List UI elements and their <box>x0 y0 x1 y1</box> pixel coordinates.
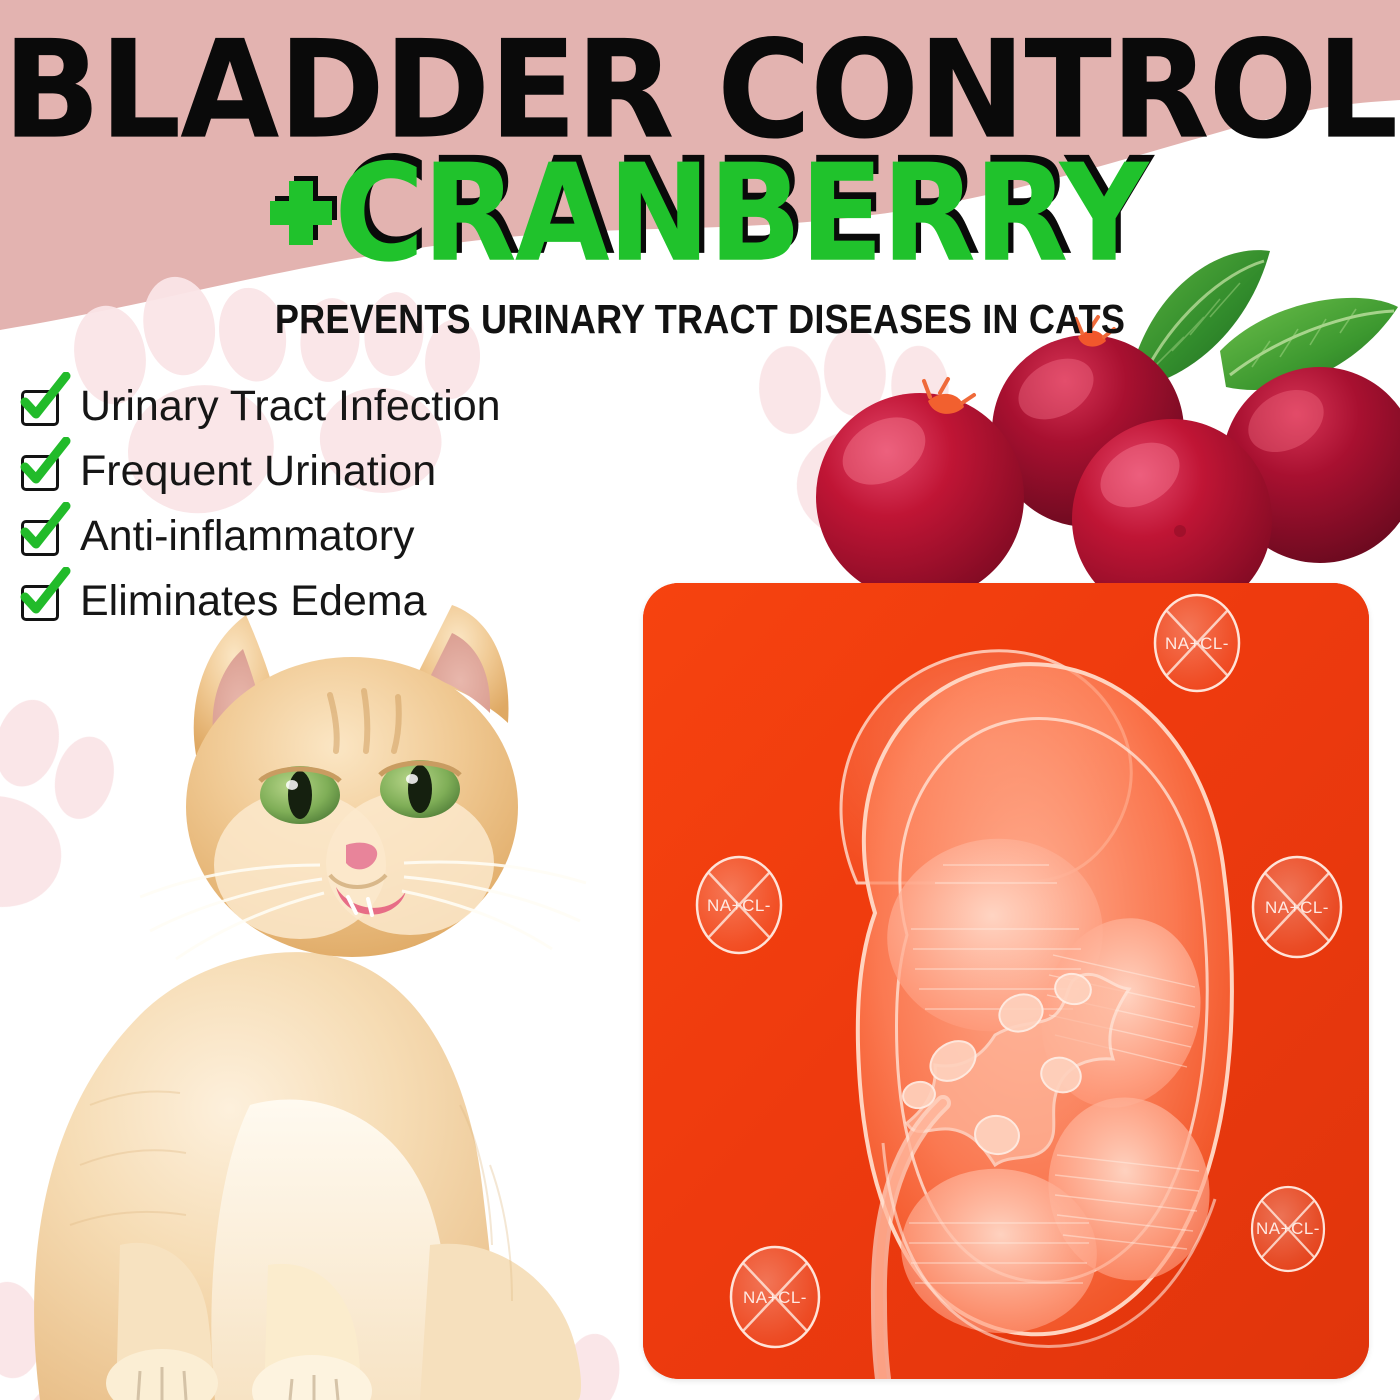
headline-block: BLADDER CONTROL CRANBERRY <box>0 0 1400 269</box>
checkbox-checked-icon <box>18 384 64 428</box>
nacl-badge-label: NA+CL- <box>1165 634 1229 653</box>
list-item: Frequent Urination <box>18 443 501 499</box>
benefit-label: Anti-inflammatory <box>80 512 415 561</box>
list-item: Urinary Tract Infection <box>18 378 501 434</box>
nacl-badge-label: NA+CL- <box>1256 1219 1320 1238</box>
benefit-label: Frequent Urination <box>80 447 436 496</box>
headline-line-1: BLADDER CONTROL <box>0 0 1400 156</box>
cat-photo <box>0 545 700 1400</box>
benefit-label: Eliminates Edema <box>80 577 427 626</box>
list-item: Eliminates Edema <box>18 573 501 629</box>
benefit-label: Urinary Tract Infection <box>80 382 501 431</box>
headline-line-2-row: CRANBERRY <box>0 157 1400 269</box>
subtitle: PREVENTS URINARY TRACT DISEASES IN CATS <box>84 296 1316 343</box>
checkbox-checked-icon <box>18 579 64 623</box>
checkbox-checked-icon <box>18 514 64 558</box>
poster-canvas: BLADDER CONTROL CRANBERRY PREVENTS URINA… <box>0 0 1400 1400</box>
nacl-badge-label: NA+CL- <box>707 896 771 915</box>
headline-line-2: CRANBERRY <box>334 149 1146 277</box>
nacl-badge-label: NA+CL- <box>1265 898 1329 917</box>
list-item: Anti-inflammatory <box>18 508 501 564</box>
kidney-illustration-panel: NA+CL- NA+CL- NA+CL- NA <box>643 583 1369 1379</box>
nacl-badge-label: NA+CL- <box>743 1288 807 1307</box>
benefits-list: Urinary Tract Infection Frequent Urinati… <box>18 378 501 629</box>
plus-cross-icon <box>270 181 332 245</box>
checkbox-checked-icon <box>18 449 64 493</box>
